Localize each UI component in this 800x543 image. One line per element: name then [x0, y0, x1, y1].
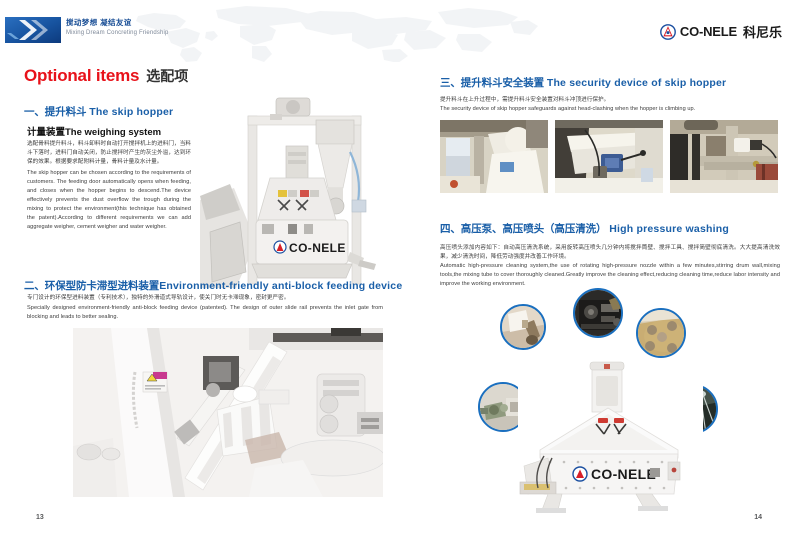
- security-device-photo-1: [440, 120, 548, 193]
- planetary-mixer-photo: CO-NELE: [518, 358, 703, 518]
- section-3-heading: 三、提升料斗安全装置 The security device of skip h…: [440, 75, 726, 90]
- section-2-body-en: Specially designed environment-friendly …: [27, 304, 383, 322]
- section-1-heading: 一、提升料斗 The skip hopper: [24, 104, 173, 119]
- section-3-heading-cn: 三、提升料斗安全装置: [440, 77, 544, 89]
- section-3-body-en: The security device of skip hopper safeg…: [440, 105, 780, 114]
- section-4-body-cn: 高压喷头添加内容如下：自动高压清洗系统，采用旋转高压喷头几分钟内将搅拌筒壁、搅拌…: [440, 244, 780, 262]
- conele-emblem-icon: [660, 24, 676, 40]
- section-3-heading-en: The security device of skip hopper: [547, 77, 727, 89]
- section-3-photo-row: [440, 120, 780, 193]
- nozzle-detail-photo: [500, 304, 546, 350]
- page-title-en: Optional items: [24, 66, 139, 86]
- company-logo-badge: [5, 17, 61, 43]
- section-1-heading-en: The skip hopper: [89, 106, 173, 118]
- brochure-page: 搅动梦想 凝结友谊 Mixing Dream Concreting Friend…: [0, 0, 800, 543]
- slogan-english: Mixing Dream Concreting Friendship: [66, 30, 168, 37]
- section-1-body-cn: 选配骨料提升料斗，料斗卸料时自动打开搅拌机上的进料门，当料斗下落时，进料门自动关…: [27, 140, 191, 167]
- brand-name: CO-NELE: [680, 24, 737, 39]
- page-title-cn: 选配项: [146, 66, 188, 86]
- high-pressure-washing-figure: CO-NELE: [440, 288, 780, 518]
- page-title: Optional items选配项: [24, 66, 188, 86]
- section-1-body-en: The skip hopper can be chosen according …: [27, 169, 191, 232]
- header-slogan: 搅动梦想 凝结友谊 Mixing Dream Concreting Friend…: [66, 19, 168, 37]
- brand-name-chinese: 科尼乐: [743, 22, 782, 41]
- security-device-photo-3: [670, 120, 778, 193]
- section-4-heading: 四、高压泵、高压喷头（高压清洗） High pressure washing: [440, 221, 729, 236]
- security-device-photo-2: [555, 120, 663, 193]
- section-4-body: 高压喷头添加内容如下：自动高压清洗系统，采用旋转高压喷头几分钟内将搅拌筒壁、搅拌…: [440, 244, 780, 289]
- section-4-body-en: Automatic high-pressure cleaning system,…: [440, 262, 780, 289]
- section-1-body: 选配骨料提升料斗，料斗卸料时自动打开搅拌机上的进料门，当料斗下落时，进料门自动关…: [27, 140, 191, 232]
- chevron-arrows-logo: [5, 17, 61, 43]
- section-4-heading-cn: 四、高压泵、高压喷头（高压清洗）: [440, 223, 606, 235]
- world-map-watermark: [120, 2, 540, 62]
- anti-block-feeding-device-photo: [73, 328, 383, 497]
- skip-hopper-machine-photo: CO-NELE: [200, 92, 424, 292]
- brand-lockup: CO-NELE 科尼乐: [660, 22, 782, 41]
- section-4-heading-en: High pressure washing: [609, 223, 729, 235]
- slogan-chinese: 搅动梦想 凝结友谊: [66, 19, 168, 28]
- section-2-heading: 二、环保型防卡滞型进料装置Environment-friendly anti-b…: [24, 278, 402, 293]
- svg-text:CO-NELE: CO-NELE: [591, 466, 656, 482]
- section-2-heading-cn: 二、环保型防卡滞型进料装置: [24, 280, 159, 292]
- section-1-subheading: 计量装置The weighing system: [27, 124, 161, 138]
- page-header: 搅动梦想 凝结友谊 Mixing Dream Concreting Friend…: [0, 0, 800, 62]
- svg-text:CO-NELE: CO-NELE: [289, 241, 346, 255]
- rotating-nozzle-head-photo: [636, 308, 686, 358]
- control-panel-photo: [573, 288, 623, 338]
- page-number-left: 13: [36, 514, 44, 521]
- section-2-body: 专门设计的环保型进料装置（专利技术），独特的外滑道式导轨设计，使关门时无卡滞现象…: [27, 294, 383, 322]
- section-1-heading-cn: 一、提升料斗: [24, 106, 86, 118]
- section-2-heading-en: Environment-friendly anti-block feeding …: [159, 280, 402, 292]
- page-number-right: 14: [754, 514, 762, 521]
- section-3-body: 提升料斗在上升过程中，需提升料斗安全装置对料斗冲顶进行保护。 The secur…: [440, 96, 780, 114]
- section-2-body-cn: 专门设计的环保型进料装置（专利技术），独特的外滑道式导轨设计，使关门时无卡滞现象…: [27, 294, 383, 303]
- section-3-body-cn: 提升料斗在上升过程中，需提升料斗安全装置对料斗冲顶进行保护。: [440, 96, 780, 105]
